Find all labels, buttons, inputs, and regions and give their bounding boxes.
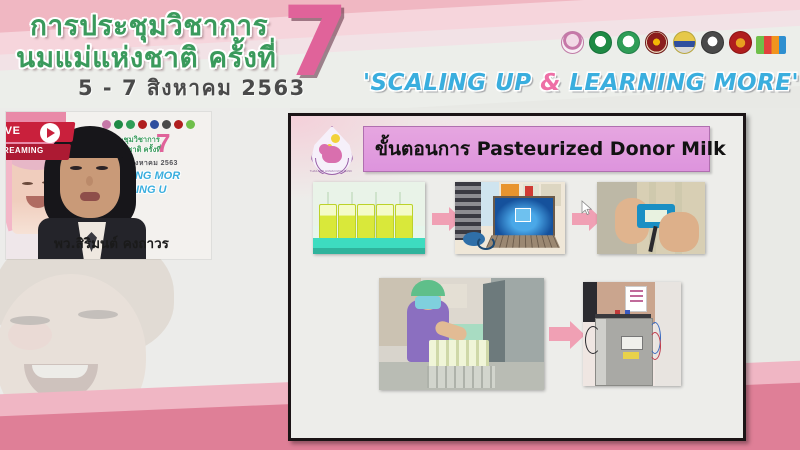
photo2-mouse-cord xyxy=(477,236,495,250)
photo5-yellow-label xyxy=(623,352,639,359)
logo-caption-text: THAILAND HUMAN MILK BANK xyxy=(307,170,355,173)
mouse-cursor-icon xyxy=(581,200,593,217)
poster-logo-8-icon xyxy=(186,120,195,129)
conference-date: 5 - 7 สิงหาคม 2563 xyxy=(78,72,306,105)
tagline-part-2: LEARNING MORE' xyxy=(561,70,799,96)
logo-mark-icon xyxy=(561,31,584,54)
speaker-eye-right xyxy=(96,166,108,170)
streaming-badge-label: STREAMING xyxy=(6,146,44,155)
speaker-name-caption: พว.สิริมนต์ คงถาวร xyxy=(54,232,169,254)
thai-health-sss-logo xyxy=(756,26,786,54)
photo2-screen-window-icon xyxy=(515,208,531,222)
slide-content-panel: THAILAND HUMAN MILK BANK ขั้นตอนการ Past… xyxy=(288,113,746,441)
tagline-ampersand: & xyxy=(540,70,561,96)
royal-college-emblem-logo xyxy=(644,26,668,54)
child-eye-right-shape xyxy=(78,310,118,319)
ministry-of-public-health-logo xyxy=(588,26,612,54)
conference-tagline: 'SCALING UP & LEARNING MORE' xyxy=(363,70,799,96)
nursing-council-logo xyxy=(728,26,752,54)
pasteurizer-machine-photo xyxy=(583,282,681,386)
royal-thai-emblem-logo xyxy=(672,26,696,54)
photo2-laptop-keyboard xyxy=(486,235,560,247)
photo5-black-hose xyxy=(585,326,601,354)
poster-edition-number: 7 xyxy=(156,130,170,156)
logo-mark-icon xyxy=(729,31,752,54)
child-eye-left-shape xyxy=(10,316,50,325)
photo4-bottle-tray xyxy=(427,366,495,388)
slide-heading-text: ขั้นตอนการ Pasteurized Donor Milk xyxy=(375,134,726,164)
logo-mark-icon xyxy=(701,31,724,54)
slide-heading-banner: ขั้นตอนการ Pasteurized Donor Milk xyxy=(363,126,710,172)
human-milk-bank-logo: THAILAND HUMAN MILK BANK xyxy=(305,122,357,180)
logo-mark-icon xyxy=(673,31,696,54)
photo1-bottle-2 xyxy=(338,204,356,240)
donor-milk-bottles-rack-photo xyxy=(313,182,425,254)
child-teeth-shape xyxy=(32,365,88,378)
live-streaming-badge: LIVE STREAMING xyxy=(6,122,74,166)
presentation-slide: การประชุมวิชาการ นมแม่แห่งชาติ ครั้งที่ … xyxy=(0,0,800,450)
handheld-thermometer-photo xyxy=(597,182,705,254)
photo1-bottle-3 xyxy=(357,204,375,240)
photo3-hand-right xyxy=(659,212,699,252)
photo5-wall-sign xyxy=(625,286,647,312)
photo1-bottle-1 xyxy=(319,204,337,240)
speaker-mouth xyxy=(80,192,100,201)
nurse-loading-pasteurizer-photo xyxy=(379,278,544,390)
garuda-emblem-logo xyxy=(700,26,724,54)
logo-mark-icon xyxy=(589,31,612,54)
poster-logo-4-icon xyxy=(138,120,147,129)
photo5-control-panel xyxy=(621,336,643,350)
thai-breastfeeding-foundation-logo xyxy=(560,26,584,54)
photo1-bottle-4 xyxy=(376,204,394,240)
sponsor-logo-row xyxy=(560,26,786,54)
photo1-bottle-5 xyxy=(395,204,413,240)
conference-header-banner: การประชุมวิชาการ นมแม่แห่งชาติ ครั้งที่ … xyxy=(0,0,800,108)
speaker-nose xyxy=(86,176,93,186)
logo-mark-icon xyxy=(645,31,668,54)
play-icon xyxy=(40,123,60,143)
poster-logo-7-icon xyxy=(174,120,183,129)
tagline-part-1: 'SCALING UP xyxy=(363,70,540,96)
speaker-eye-left xyxy=(70,166,82,170)
photo4-surgical-mask xyxy=(415,296,441,309)
drop-sun-icon xyxy=(331,134,340,143)
photo1-rack-base xyxy=(313,248,425,254)
photo5-red-hose xyxy=(649,332,661,360)
laptop-data-recording-photo xyxy=(455,182,565,254)
logo-mark-icon xyxy=(617,31,640,54)
poster-child-eye-left xyxy=(22,182,33,185)
logo-mark-icon xyxy=(756,36,786,54)
live-badge-label: LIVE xyxy=(6,125,20,137)
department-of-health-logo xyxy=(616,26,640,54)
conference-edition-number: 7 xyxy=(282,0,349,90)
